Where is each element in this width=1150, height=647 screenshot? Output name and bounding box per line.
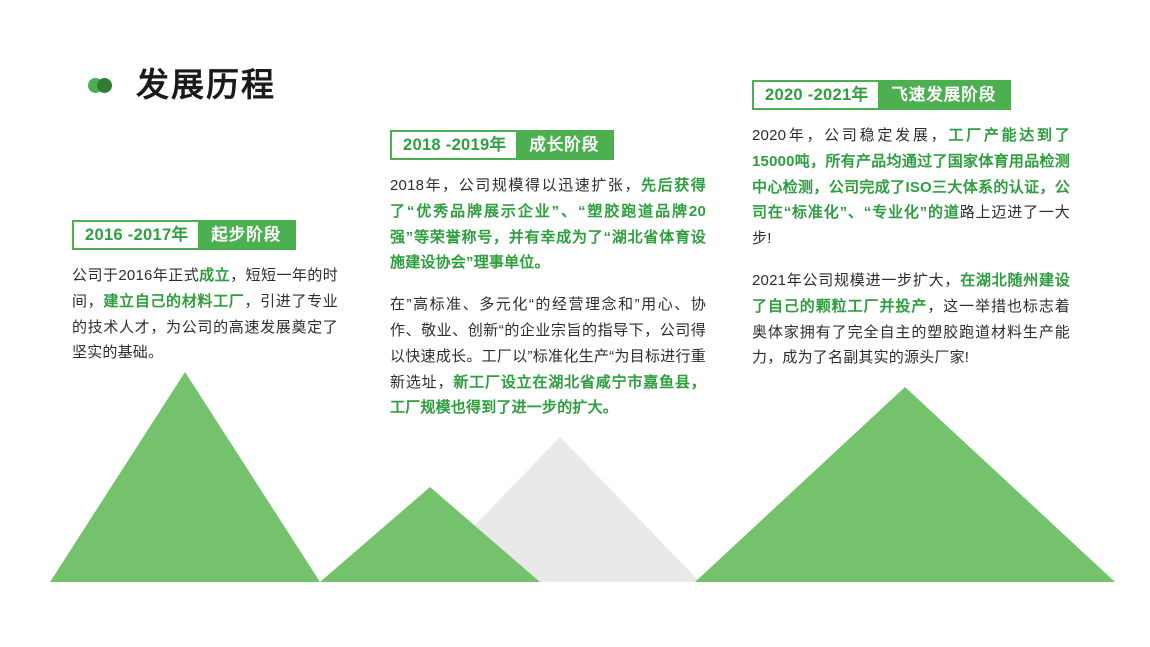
slide-canvas: 发展历程 2016 -2017年 起步阶段 公司于2016年正式成立，短短一年的… xyxy=(0,0,1150,647)
paragraph: 2021年公司规模进一步扩大，在湖北随州建设了自己的颗粒工厂并投产，这一举措也标… xyxy=(752,268,1070,371)
text-run: 2021年公司规模进一步扩大， xyxy=(752,272,960,289)
timeline-badge-2: 2018 -2019年 成长阶段 xyxy=(390,130,614,160)
paragraph: 2018年，公司规模得以迅速扩张，先后获得了“优秀品牌展示企业”、“塑胶跑道品牌… xyxy=(390,173,706,276)
timeline-body-3: 2020年，公司稳定发展，工厂产能达到了15000吨，所有产品均通过了国家体育用… xyxy=(752,123,1070,371)
text-run: 2020年，公司稳定发展， xyxy=(752,127,948,144)
paragraph: 公司于2016年正式成立，短短一年的时间，建立自己的材料工厂，引进了专业的技术人… xyxy=(72,263,338,366)
timeline-phase-1: 起步阶段 xyxy=(198,222,294,248)
timeline-phase-3: 飞速发展阶段 xyxy=(878,82,1009,108)
timeline-years-2: 2018 -2019年 xyxy=(392,132,516,158)
highlighted-text: 成立 xyxy=(199,267,230,284)
paragraph: 在”高标准、多元化“的经营理念和”用心、协作、敬业、创新“的企业宗旨的指导下，公… xyxy=(390,292,706,421)
timeline-column-1: 2016 -2017年 起步阶段 公司于2016年正式成立，短短一年的时间，建立… xyxy=(72,220,338,381)
timeline-body-1: 公司于2016年正式成立，短短一年的时间，建立自己的材料工厂，引进了专业的技术人… xyxy=(72,263,338,366)
text-run: 2018年，公司规模得以迅速扩张， xyxy=(390,177,641,194)
timeline-body-2: 2018年，公司规模得以迅速扩张，先后获得了“优秀品牌展示企业”、“塑胶跑道品牌… xyxy=(390,173,706,421)
page-title-block: 发展历程 xyxy=(88,68,276,101)
timeline-column-3: 2020 -2021年 飞速发展阶段 2020年，公司稳定发展，工厂产能达到了1… xyxy=(752,80,1070,386)
timeline-badge-3: 2020 -2021年 飞速发展阶段 xyxy=(752,80,1011,110)
timeline-years-1: 2016 -2017年 xyxy=(74,222,198,248)
timeline-badge-1: 2016 -2017年 起步阶段 xyxy=(72,220,296,250)
highlighted-text: 建立自己的材料工厂 xyxy=(103,293,244,310)
timeline-phase-2: 成长阶段 xyxy=(516,132,612,158)
text-run: 公司于2016年正式 xyxy=(72,267,199,284)
page-title: 发展历程 xyxy=(136,68,276,101)
timeline-years-3: 2020 -2021年 xyxy=(754,82,878,108)
mountain-green-3 xyxy=(695,387,1115,582)
paragraph: 2020年，公司稳定发展，工厂产能达到了15000吨，所有产品均通过了国家体育用… xyxy=(752,123,1070,252)
mountain-green-1 xyxy=(50,372,320,582)
bullet-dots-icon xyxy=(88,75,114,95)
bullet-dot-dark-icon xyxy=(97,78,112,93)
timeline-column-2: 2018 -2019年 成长阶段 2018年，公司规模得以迅速扩张，先后获得了“… xyxy=(390,130,706,436)
